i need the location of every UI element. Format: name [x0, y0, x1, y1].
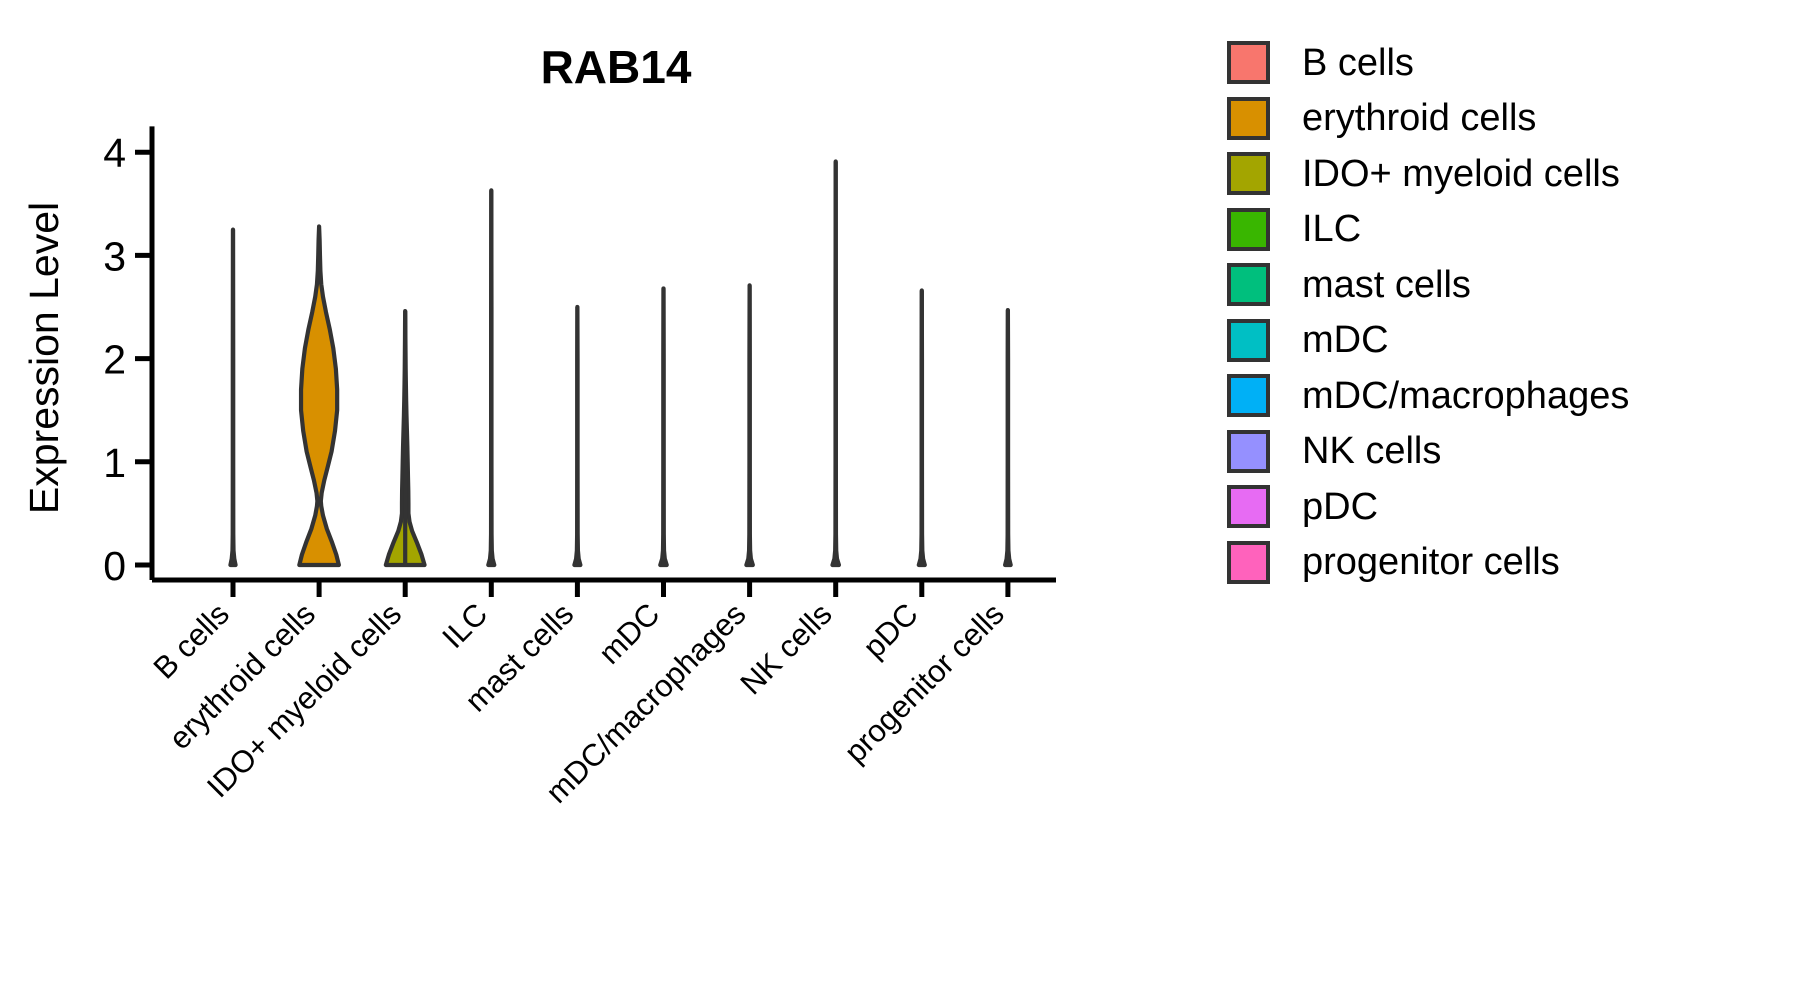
- legend-item[interactable]: pDC: [1227, 479, 1767, 535]
- x-tick-label: mDC: [592, 596, 667, 671]
- legend-color-swatch: [1227, 208, 1270, 251]
- legend-item-label: mDC/macrophages: [1302, 377, 1629, 415]
- violin-plot-figure: RAB14 Expression Level 01234 B cellseryt…: [0, 0, 1795, 1002]
- chart-title: RAB14: [541, 41, 692, 93]
- legend-item-label: erythroid cells: [1302, 99, 1536, 137]
- legend-color-swatch: [1227, 319, 1270, 362]
- y-tick-label: 3: [103, 233, 126, 279]
- legend-item-label: pDC: [1302, 488, 1378, 526]
- y-tick-label: 1: [103, 440, 126, 486]
- x-tick-label: NK cells: [734, 596, 839, 701]
- legend-item[interactable]: mDC: [1227, 313, 1767, 369]
- legend-item-label: mast cells: [1302, 266, 1471, 304]
- y-axis-title: Expression Level: [21, 202, 67, 514]
- x-tick-label: ILC: [435, 596, 494, 655]
- legend-color-swatch: [1227, 41, 1270, 84]
- legend-item-label: NK cells: [1302, 432, 1441, 470]
- legend-item[interactable]: NK cells: [1227, 424, 1767, 480]
- y-tick-label: 0: [103, 543, 126, 589]
- legend-item-label: mDC: [1302, 321, 1389, 359]
- legend-color-swatch: [1227, 263, 1270, 306]
- legend-color-swatch: [1227, 485, 1270, 528]
- y-tick-label: 2: [103, 337, 126, 383]
- legend-item[interactable]: B cells: [1227, 35, 1767, 91]
- legend-item[interactable]: progenitor cells: [1227, 535, 1767, 591]
- legend-item-label: B cells: [1302, 44, 1414, 82]
- x-tick-label: progenitor cells: [837, 596, 1010, 769]
- legend-item[interactable]: IDO+ myeloid cells: [1227, 146, 1767, 202]
- legend-item[interactable]: erythroid cells: [1227, 91, 1767, 147]
- legend-color-swatch: [1227, 97, 1270, 140]
- legend-item[interactable]: mast cells: [1227, 257, 1767, 313]
- y-tick-label: 4: [103, 130, 126, 176]
- legend-color-swatch: [1227, 430, 1270, 473]
- x-axis-tick-labels: B cellserythroid cellsIDO+ myeloid cells…: [147, 596, 1011, 810]
- legend-item[interactable]: mDC/macrophages: [1227, 368, 1767, 424]
- legend-color-swatch: [1227, 374, 1270, 417]
- legend-item[interactable]: ILC: [1227, 202, 1767, 258]
- y-axis: 01234: [103, 126, 152, 589]
- x-axis: [152, 580, 1056, 597]
- violin-erythroid-cells[interactable]: [299, 227, 339, 566]
- legend-color-swatch: [1227, 541, 1270, 584]
- legend-item-label: ILC: [1302, 210, 1361, 248]
- legend-color-swatch: [1227, 152, 1270, 195]
- legend-item-label: IDO+ myeloid cells: [1302, 155, 1620, 193]
- x-tick-label: pDC: [856, 596, 925, 665]
- legend: B cellserythroid cellsIDO+ myeloid cells…: [1227, 35, 1767, 590]
- violin-series-group: [230, 161, 1010, 565]
- legend-item-label: progenitor cells: [1302, 543, 1560, 581]
